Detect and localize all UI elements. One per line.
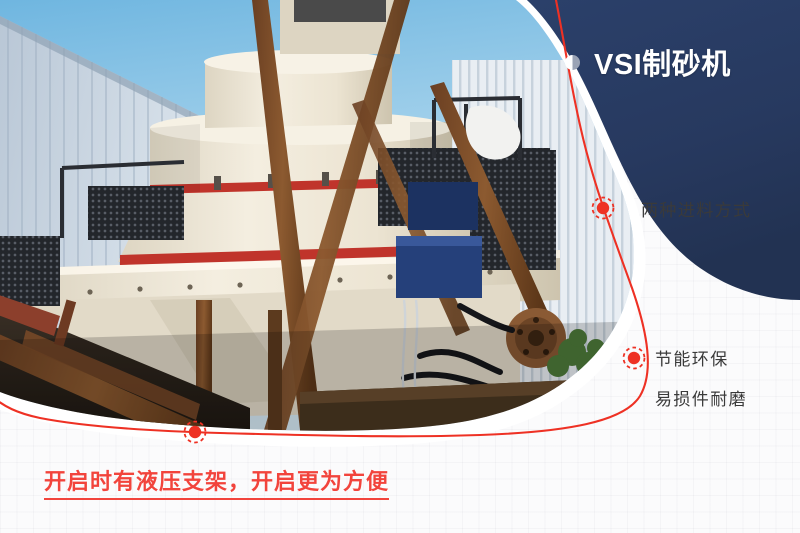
feature-label-eco: 节能环保 — [655, 345, 729, 370]
two-tone-dot-icon — [565, 55, 580, 70]
page-title: VSI制砂机 — [594, 41, 731, 83]
feature-label-feeding: 两种进料方式 — [641, 196, 751, 221]
caption-text: 开启时有液压支架，开启更为方便 — [44, 470, 389, 500]
red-connector-curve — [0, 0, 648, 436]
marker-eco — [624, 348, 645, 369]
promo-banner: VSI制砂机 两种进料方式 节能环保 易损件耐磨 开启时有液压支架，开启更为方便 — [0, 0, 800, 533]
product-title-block: VSI制砂机 — [565, 41, 731, 83]
marker-feed — [593, 198, 614, 219]
feature-label-wear: 易损件耐磨 — [655, 385, 747, 410]
